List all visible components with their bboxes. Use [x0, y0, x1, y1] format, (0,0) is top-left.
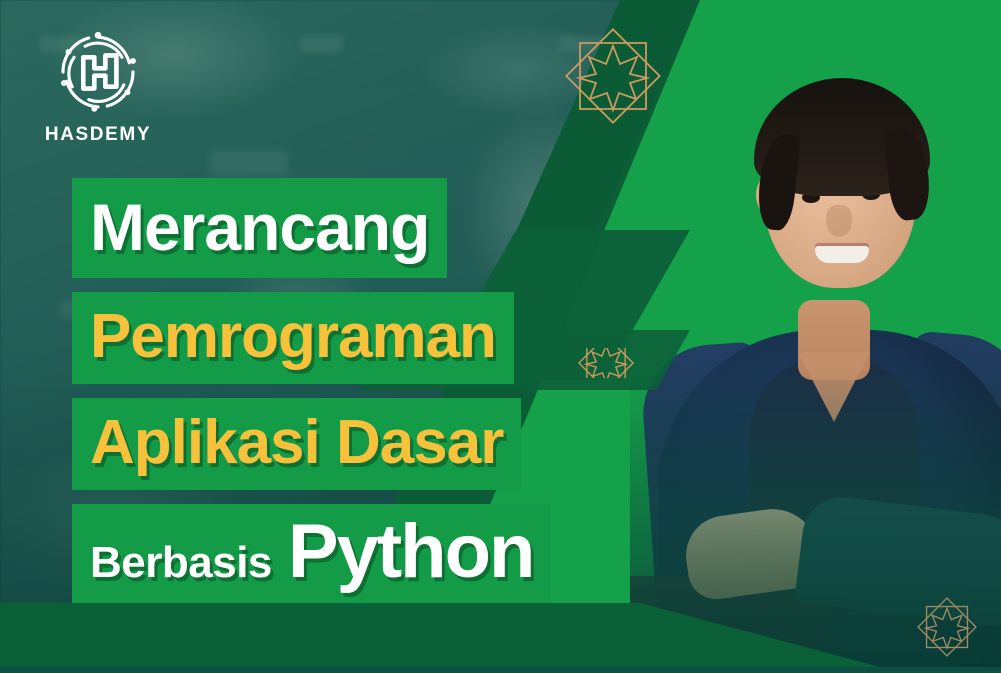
bottom-rule [0, 667, 1001, 673]
headline-line-4: Berbasis Python [72, 504, 551, 604]
islamic-star-ornament-icon [563, 26, 663, 126]
headline-line-1: Merancang [72, 178, 447, 278]
islamic-star-ornament-bottom-icon [916, 596, 978, 658]
headline-line-3: Aplikasi Dasar [72, 398, 521, 490]
headline-block: Merancang Pemrograman Aplikasi Dasar Ber… [72, 178, 772, 604]
headline-line-4-prefix: Berbasis [90, 541, 272, 585]
brand-name: HASDEMY [40, 124, 156, 146]
course-banner: HASDEMY M [0, 0, 1001, 673]
headline-line-4-keyword: Python [288, 514, 534, 590]
hasdemy-logo-icon [52, 26, 144, 118]
brand-logo: HASDEMY [40, 26, 156, 146]
headline-line-2: Pemrograman [72, 292, 514, 384]
